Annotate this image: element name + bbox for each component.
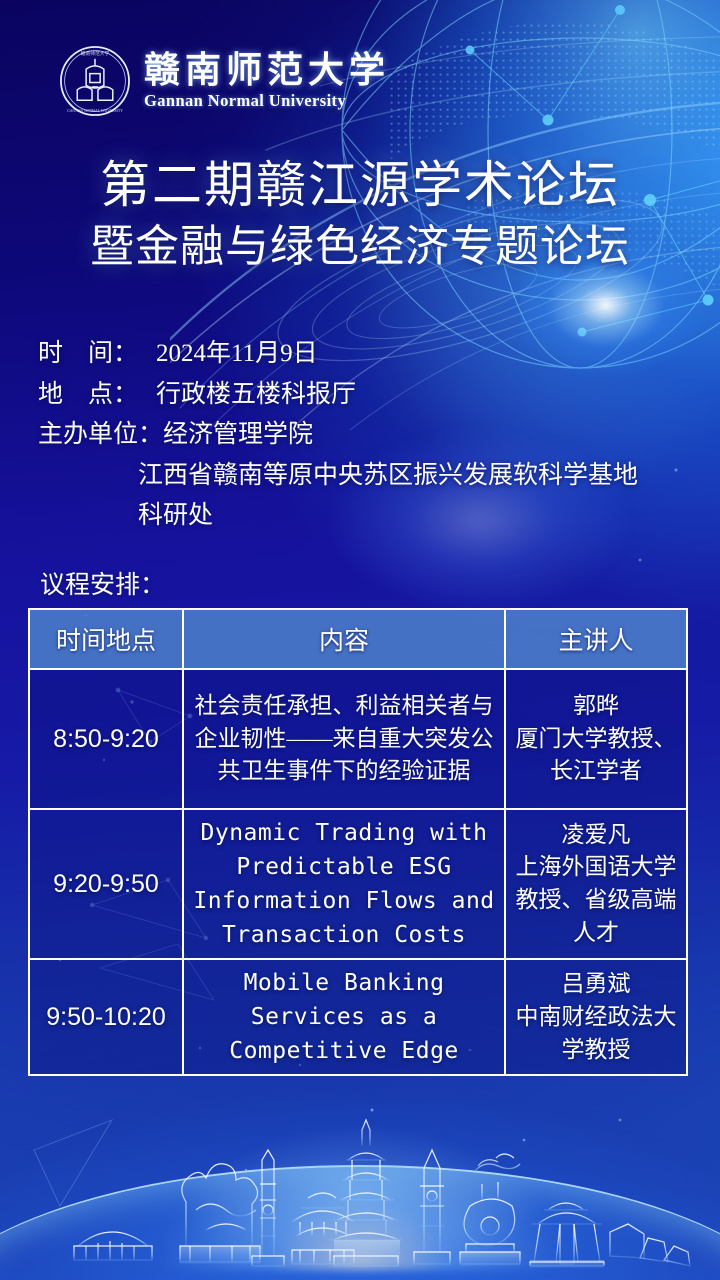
- table-row: 8:50-9:20 社会责任承担、利益相关者与企业韧性——来自重大突发公共卫生事…: [29, 669, 687, 809]
- host-value: 经济管理学院: [163, 415, 313, 456]
- svg-text:GANNAN NORMAL UNIVERSITY: GANNAN NORMAL UNIVERSITY: [67, 109, 123, 113]
- agenda-speaker-title-1: 厦门大学教授、长江学者: [510, 723, 682, 788]
- host-extra-1: 江西省赣南等原中央苏区振兴发展软科学基地: [138, 456, 638, 497]
- svg-text:赣南师范大学: 赣南师范大学: [81, 50, 110, 57]
- agenda-table: 时间地点 内容 主讲人 8:50-9:20 社会责任承担、利益相关者与企业韧性—…: [28, 608, 688, 1076]
- agenda-speaker-name-1: 郭晔: [510, 690, 682, 723]
- monument-shape: [460, 1154, 520, 1264]
- agenda-speaker-2: 凌爱凡 上海外国语大学教授、省级高端人才: [505, 809, 687, 959]
- agenda-speaker-name-3: 吕勇斌: [510, 968, 682, 1001]
- host-extra-2: 科研处: [138, 496, 213, 537]
- gate-pavilion-shape: [530, 1200, 604, 1266]
- city-skyline-icon: [0, 1060, 720, 1280]
- info-row-host: 主办单位： 经济管理学院: [38, 415, 698, 456]
- university-name-cn: 赣南师范大学: [144, 52, 390, 88]
- university-name-en: Gannan Normal University: [144, 93, 390, 110]
- title-line-2: 暨金融与绿色经济专题论坛: [0, 221, 720, 274]
- sculpture-shape: [180, 1164, 260, 1262]
- clock-tower-shape: [252, 1138, 284, 1266]
- agenda-speaker-title-3: 中南财经政法大学教授: [510, 1001, 682, 1066]
- agenda-col-time: 时间地点: [29, 609, 183, 669]
- pagoda-shape: [330, 1120, 402, 1266]
- info-row-host-extra-1: 江西省赣南等原中央苏区振兴发展软科学基地: [38, 456, 698, 497]
- place-label: 地 点：: [38, 375, 156, 416]
- agenda-col-content: 内容: [183, 609, 505, 669]
- time-label: 时 间：: [38, 334, 156, 375]
- agenda-speaker-name-2: 凌爱凡: [510, 819, 682, 852]
- agenda-time-2: 9:20-9:50: [29, 809, 183, 959]
- bridge-shape: [70, 1232, 160, 1260]
- table-row: 9:20-9:50 Dynamic Trading with Predictab…: [29, 809, 687, 959]
- place-value: 行政楼五楼科报厅: [156, 375, 356, 416]
- university-logo: 赣南师范大学 GANNAN NORMAL UNIVERSITY 赣南师范大学 G…: [58, 44, 390, 118]
- agenda-content-2: Dynamic Trading with Predictable ESG Inf…: [183, 809, 505, 959]
- earth-curve-icon: [0, 1165, 720, 1280]
- university-seal-icon: 赣南师范大学 GANNAN NORMAL UNIVERSITY: [58, 44, 132, 118]
- poster-title: 第二期赣江源学术论坛 暨金融与绿色经济专题论坛: [0, 156, 720, 274]
- spire-tower-shape: [414, 1150, 450, 1264]
- agenda-col-speaker: 主讲人: [505, 609, 687, 669]
- event-info-block: 时 间： 2024年11月9日 地 点： 行政楼五楼科报厅 主办单位： 经济管理…: [38, 334, 698, 537]
- info-row-time: 时 间： 2024年11月9日: [38, 334, 698, 375]
- poster-root: 赣南师范大学 GANNAN NORMAL UNIVERSITY 赣南师范大学 G…: [0, 0, 720, 1280]
- traditional-hall-shape: [286, 1193, 360, 1264]
- agenda-speaker-1: 郭晔 厦门大学教授、长江学者: [505, 669, 687, 809]
- agenda-speaker-3: 吕勇斌 中南财经政法大学教授: [505, 959, 687, 1075]
- agenda-content-3: Mobile Banking Services as a Competitive…: [183, 959, 505, 1075]
- info-row-host-extra-2: 科研处: [38, 496, 698, 537]
- time-value: 2024年11月9日: [156, 334, 318, 375]
- agenda-header-row: 时间地点 内容 主讲人: [29, 609, 687, 669]
- agenda-speaker-title-2: 上海外国语大学教授、省级高端人才: [510, 851, 682, 949]
- agenda-label: 议程安排：: [40, 565, 165, 601]
- table-row: 9:50-10:20 Mobile Banking Services as a …: [29, 959, 687, 1075]
- agenda-content-1: 社会责任承担、利益相关者与企业韧性——来自重大突发公共卫生事件下的经验证据: [183, 669, 505, 809]
- modern-blocks-shape: [610, 1224, 690, 1266]
- title-line-1: 第二期赣江源学术论坛: [0, 156, 720, 215]
- city-light-glow: [150, 1120, 570, 1270]
- agenda-time-1: 8:50-9:20: [29, 669, 183, 809]
- info-row-place: 地 点： 行政楼五楼科报厅: [38, 375, 698, 416]
- agenda-time-3: 9:50-10:20: [29, 959, 183, 1075]
- host-label: 主办单位：: [38, 415, 163, 456]
